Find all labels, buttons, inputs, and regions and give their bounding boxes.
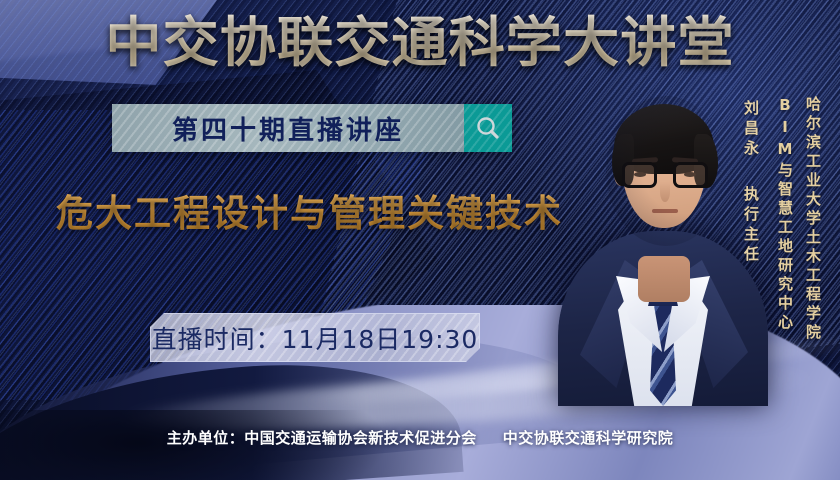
speaker-portrait: [566, 76, 756, 406]
search-button[interactable]: [464, 104, 512, 152]
speaker-role: 执行主任: [741, 186, 762, 266]
speaker-affiliation: 哈尔滨工业大学土木工程学院: [803, 96, 824, 343]
episode-bar: 第四十期直播讲座: [112, 104, 512, 152]
speaker-name: 刘昌永: [741, 100, 762, 160]
page-title: 中交协联交通科学大讲堂: [0, 12, 840, 74]
portrait-lens-left: [622, 162, 657, 188]
broadcast-time-banner: 直播时间：11月18日19:30: [150, 313, 480, 362]
webinar-poster: 中交协联交通科学大讲堂 中交协联交通科学大讲堂 第四十期直播讲座 危大工程设计与…: [0, 0, 840, 480]
lecture-topic: 危大工程设计与管理关键技术: [56, 189, 563, 239]
episode-label-panel: 第四十期直播讲座: [112, 104, 464, 152]
portrait-nose: [660, 182, 670, 202]
portrait-neck: [638, 256, 690, 302]
episode-label: 第四十期直播讲座: [172, 110, 404, 147]
footer-organizers: 主办单位：中国交通运输协会新技术促进分会中交协联交通科学研究院: [0, 427, 840, 448]
footer-organizer-secondary: 中交协联交通科学研究院: [503, 429, 674, 447]
portrait-mouth: [652, 209, 678, 213]
speaker-research-center: BIM与智慧工地研究中心: [775, 96, 796, 333]
portrait-lens-right: [673, 162, 708, 188]
search-icon: [475, 115, 501, 141]
footer-organizer-primary: 主办单位：中国交通运输协会新技术促进分会: [167, 429, 477, 447]
broadcast-time-text: 直播时间：11月18日19:30: [152, 320, 479, 356]
portrait-glasses-bridge: [657, 170, 673, 173]
